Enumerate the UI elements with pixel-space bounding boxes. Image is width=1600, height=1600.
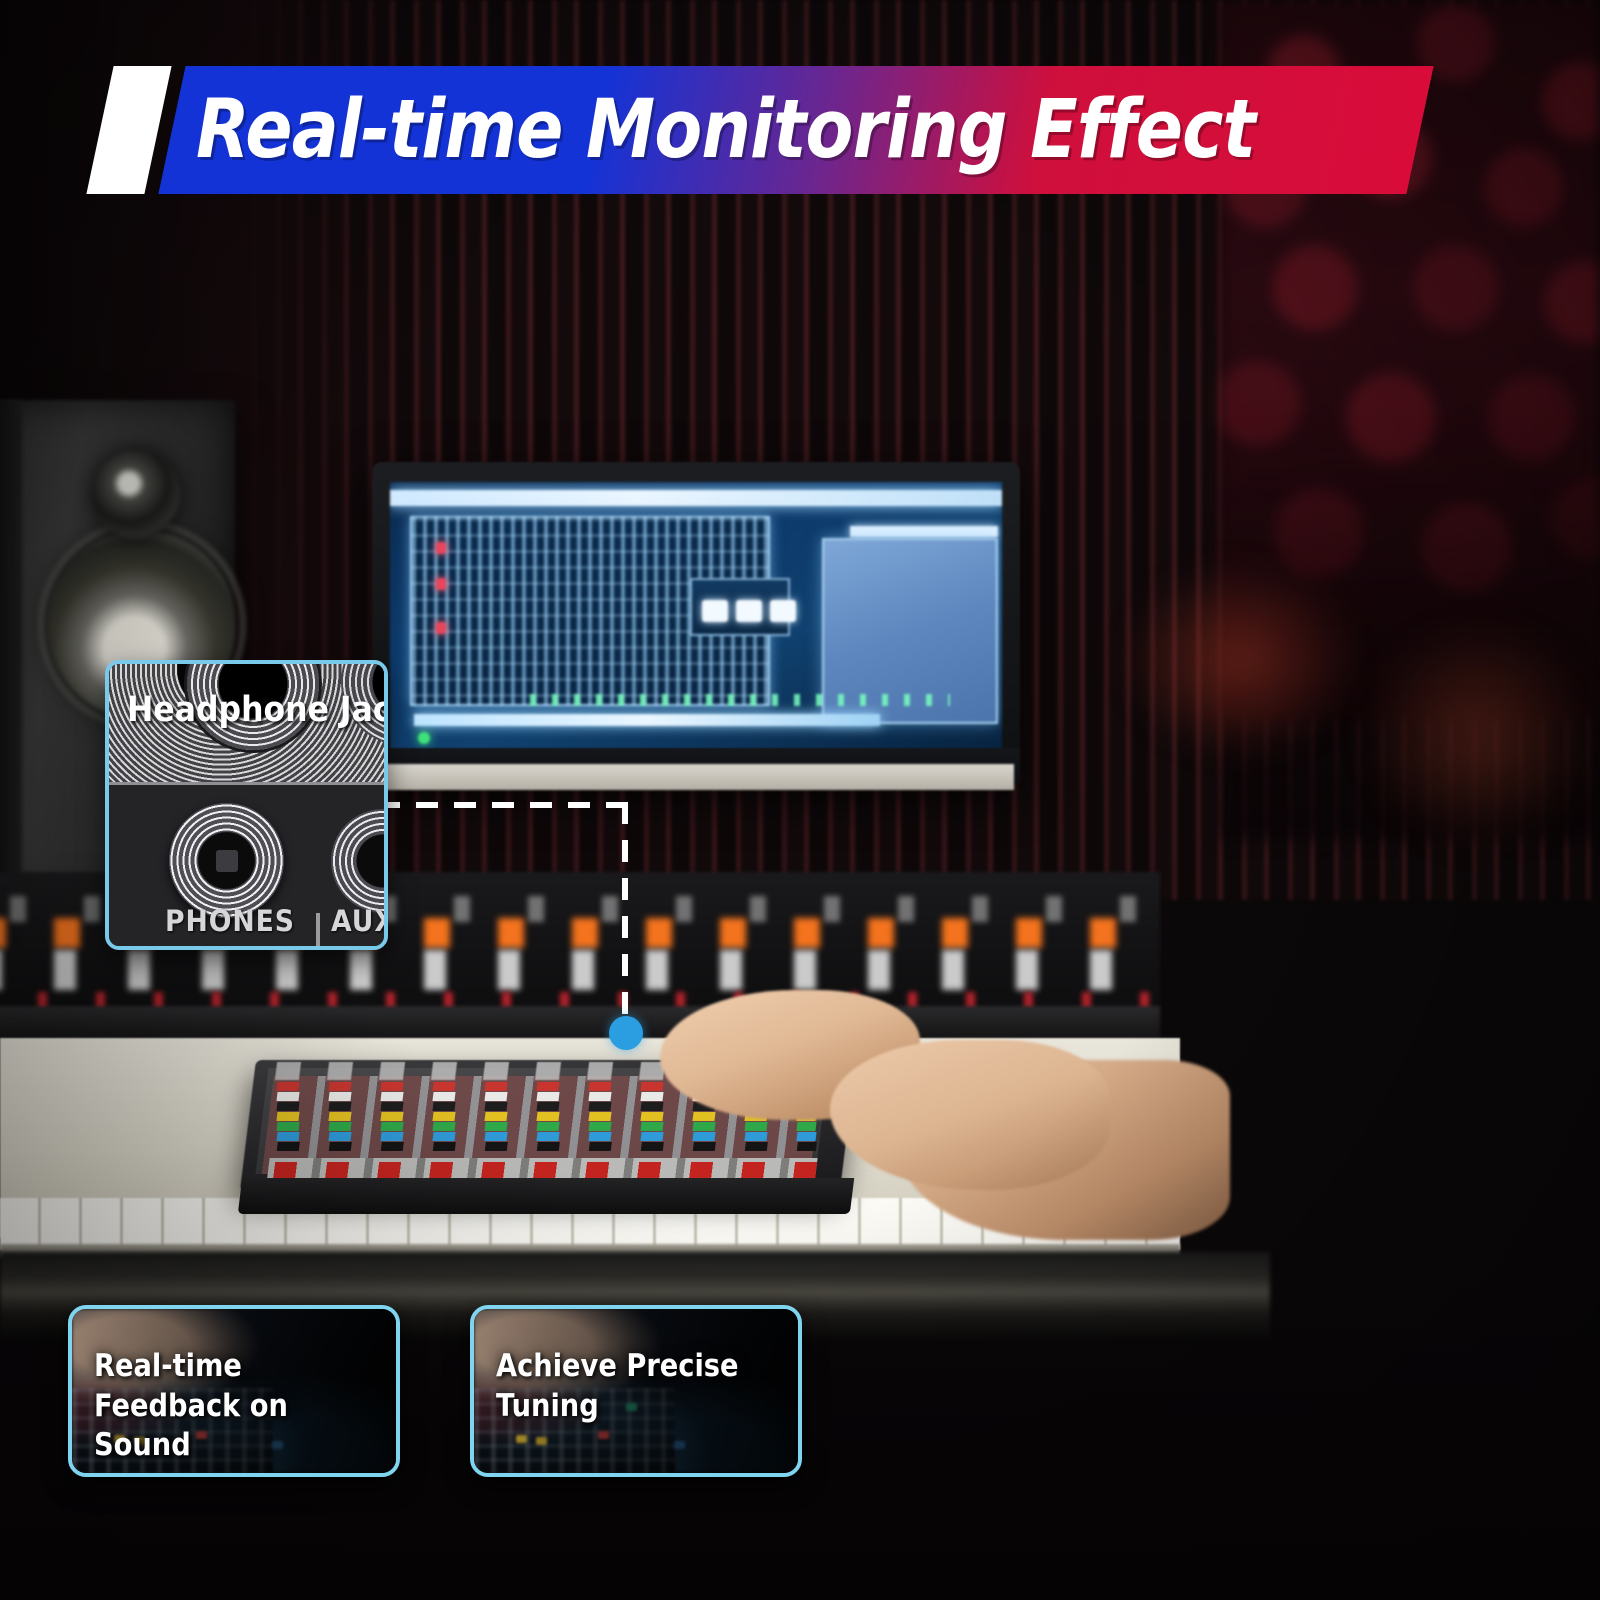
banner-title-wrap: Real-time Monitoring Effect — [196, 66, 1436, 194]
card-caption-line2: Tuning — [496, 1387, 751, 1427]
card-caption-line1: Real-time — [94, 1348, 242, 1384]
headphone-jack-inset: PHONES AUX Headphone Jack — [105, 660, 388, 950]
inset-title: Headphone Jack — [127, 690, 388, 730]
phones-jack-icon — [169, 803, 284, 918]
daw-led-1 — [436, 542, 446, 554]
header-banner: Real-time Monitoring Effect — [0, 58, 1600, 208]
daw-status-bar — [414, 714, 880, 726]
monitor-stand — [378, 764, 1014, 790]
callout-dashed-line-horizontal — [378, 802, 640, 808]
italic-slash-icon — [86, 66, 171, 194]
mixer-knob-row-base — [267, 1142, 817, 1156]
card-caption-line2: Feedback on Sound — [94, 1387, 349, 1466]
speaker-side-panel — [0, 400, 22, 900]
inset-bottom-photo: PHONES AUX — [109, 785, 384, 950]
mixer-base — [238, 1178, 854, 1214]
aux-port-label: AUX — [331, 904, 388, 938]
card-caption-line1: Achieve Precise — [496, 1348, 739, 1384]
daw-button-2 — [736, 600, 762, 622]
speaker-tweeter — [92, 450, 180, 538]
daw-button-1 — [702, 600, 728, 622]
monitor-screen — [390, 482, 1002, 754]
feature-card-precise-tuning: Achieve Precise Tuning — [470, 1305, 802, 1477]
mixer-knob-row-blue — [267, 1132, 816, 1141]
page-title: Real-time Monitoring Effect — [196, 83, 1255, 177]
aux-jack-icon — [331, 809, 388, 913]
daw-toolbar — [390, 490, 1002, 506]
mixer-knob-row-green — [267, 1122, 816, 1131]
daw-button-3 — [770, 600, 796, 622]
daw-meter-leds — [530, 694, 950, 706]
daw-record-indicator — [418, 732, 430, 744]
card-caption: Real-time Feedback on Sound — [94, 1347, 349, 1466]
feature-card-realtime-feedback: Real-time Feedback on Sound — [68, 1305, 400, 1477]
daw-led-2 — [436, 578, 446, 590]
inset-vertical-separator — [316, 913, 320, 950]
product-feature-image: Real-time Monitoring Effect PHONES AUX H… — [0, 0, 1600, 1600]
phones-port-label: PHONES — [165, 904, 295, 938]
daw-led-3 — [436, 622, 446, 634]
callout-dashed-line-vertical — [622, 802, 628, 1020]
callout-dot-icon — [609, 1016, 643, 1050]
card-caption: Achieve Precise Tuning — [496, 1347, 751, 1426]
